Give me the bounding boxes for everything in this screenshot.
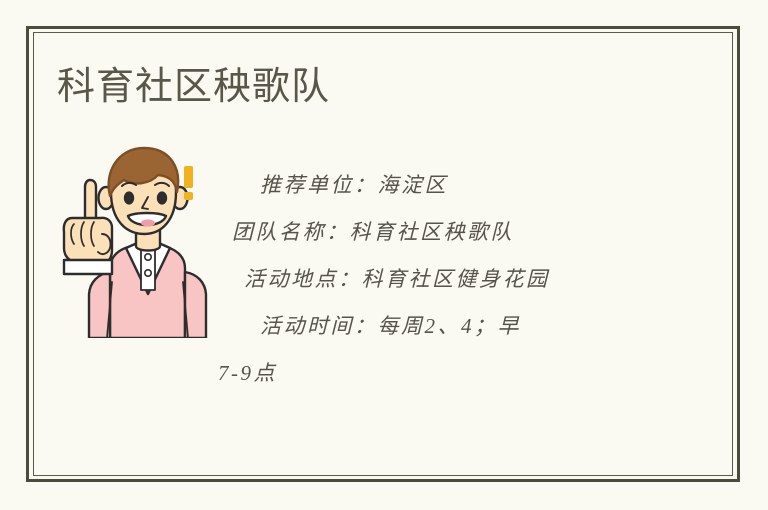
info-line-activity-time: 活动时间：每周2、4；早 <box>218 303 670 350</box>
activity-info-block: 推荐单位：海淀区 团队名称：科育社区秧歌队 活动地点：科育社区健身花园 活动时间… <box>218 162 670 397</box>
pointing-man-illustration <box>58 142 218 338</box>
index-finger <box>85 180 96 220</box>
left-eye <box>124 191 134 204</box>
poster-canvas: 科育社区秧歌队 <box>0 0 768 510</box>
page-title: 科育社区秧歌队 <box>57 63 330 111</box>
shirt-cuff <box>64 260 112 274</box>
info-line-recommending-unit: 推荐单位：海淀区 <box>218 162 670 209</box>
info-line-activity-time-cont: 7-9点 <box>218 350 670 397</box>
shirt-placket <box>141 246 155 290</box>
info-line-team-name: 团队名称：科育社区秧歌队 <box>218 209 670 256</box>
shirt-button-bottom <box>145 270 151 276</box>
tongue <box>141 219 155 226</box>
sweater-left-sleeve <box>89 272 110 338</box>
exclamation-mark-icon <box>184 166 196 202</box>
right-eye <box>157 191 167 204</box>
shirt-button-top <box>145 254 151 260</box>
sweater-right-sleeve <box>185 272 206 338</box>
info-line-activity-location: 活动地点：科育社区健身花园 <box>218 256 670 303</box>
